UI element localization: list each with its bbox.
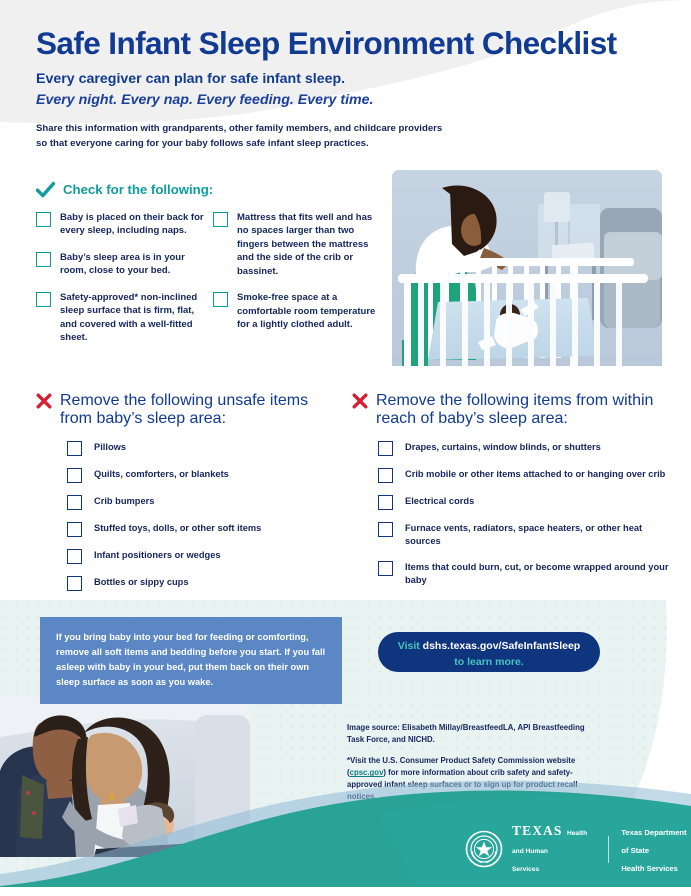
visit-url: dshs.texas.gov/SafeInfantSleep [423, 640, 581, 652]
list-item-label: Electrical cords [405, 494, 474, 508]
check-section: Check for the following: Baby is placed … [36, 182, 381, 358]
visit-label: Visit dshs.texas.gov/SafeInfantSleep [398, 640, 580, 652]
checkbox[interactable] [378, 522, 393, 537]
texas-state-seal-icon [465, 830, 503, 868]
bottom-white-strip [0, 887, 691, 896]
list-item[interactable]: Pillows [67, 440, 346, 456]
share-line-1: Share this information with grandparents… [36, 122, 666, 137]
hhs-wordmark: TEXAS Health and Human Services [512, 822, 595, 876]
list-item-label: Pillows [94, 440, 126, 454]
checklist-item[interactable]: Mattress that fits well and has no space… [213, 211, 381, 278]
checkbox[interactable] [67, 468, 82, 483]
x-icon [352, 393, 368, 409]
image-source-block: Image source: Elisabeth Millay/Breastfee… [347, 722, 597, 803]
checkbox[interactable] [213, 292, 228, 307]
checklist-item[interactable]: Baby is placed on their back for every s… [36, 211, 204, 238]
checkbox[interactable] [378, 495, 393, 510]
brand-divider [608, 836, 609, 863]
footnote-text: *Visit the U.S. Consumer Product Safety … [347, 755, 597, 803]
checkbox[interactable] [378, 468, 393, 483]
checklist-item-label: Baby is placed on their back for every s… [60, 211, 204, 238]
remove-right-heading: Remove the following items from within r… [352, 392, 677, 428]
dept-line-1: Texas Department of State [621, 828, 686, 855]
checkbox[interactable] [36, 252, 51, 267]
remove-left-title: Remove the following unsafe items from b… [60, 392, 308, 428]
checkbox[interactable] [36, 212, 51, 227]
list-item[interactable]: Bottles or sippy cups [67, 575, 346, 591]
image-source-credit: Image source: Elisabeth Millay/Breastfee… [347, 722, 597, 746]
list-item-label: Infant positioners or wedges [94, 548, 221, 562]
subtitle-line-1: Every caregiver can plan for safe infant… [36, 69, 666, 90]
list-item-label: Bottles or sippy cups [94, 575, 189, 589]
crib-photo [392, 170, 662, 375]
list-item-label: Furnace vents, radiators, space heaters,… [405, 521, 677, 549]
visit-subtext: to learn more. [398, 656, 580, 670]
list-item-label: Quilts, comforters, or blankets [94, 467, 229, 481]
bed-sharing-callout: If you bring baby into your bed for feed… [40, 617, 342, 704]
agency-branding: TEXAS Health and Human Services Texas De… [465, 822, 691, 876]
check-column-2: Mattress that fits well and has no space… [213, 211, 381, 358]
list-item-label: Items that could burn, cut, or become wr… [405, 560, 677, 588]
page-title: Safe Infant Sleep Environment Checklist [36, 26, 666, 60]
checkbox[interactable] [378, 561, 393, 576]
checkbox[interactable] [67, 495, 82, 510]
checklist-item-label: Safety-approved* non-inclined sleep surf… [60, 291, 204, 345]
list-item-label: Stuffed toys, dolls, or other soft items [94, 521, 261, 535]
checklist-item-label: Mattress that fits well and has no space… [237, 211, 381, 278]
list-item[interactable]: Items that could burn, cut, or become wr… [378, 560, 677, 588]
check-section-heading: Check for the following: [36, 182, 381, 200]
family-photo [0, 697, 250, 857]
dept-line-2: Health Services [621, 864, 678, 873]
x-icon [36, 393, 52, 409]
checklist-item[interactable]: Baby’s sleep area is in your room, close… [36, 251, 204, 278]
image-source-label: Image source: [347, 723, 400, 732]
checkbox[interactable] [67, 576, 82, 591]
checklist-item-label: Smoke-free space at a comfortable room t… [237, 291, 381, 331]
remove-left-list: Pillows Quilts, comforters, or blankets … [36, 440, 346, 591]
hhs-line-2: Services [512, 866, 539, 873]
visit-website-button[interactable]: Visit dshs.texas.gov/SafeInfantSleep to … [378, 632, 600, 672]
checkbox[interactable] [36, 292, 51, 307]
checkbox[interactable] [67, 441, 82, 456]
remove-within-reach-section: Remove the following items from within r… [352, 392, 677, 599]
check-section-title: Check for the following: [63, 182, 213, 198]
list-item[interactable]: Quilts, comforters, or blankets [67, 467, 346, 483]
page-header: Safe Infant Sleep Environment Checklist … [36, 26, 666, 151]
poster-page: Safe Infant Sleep Environment Checklist … [0, 0, 691, 896]
checklist-item[interactable]: Smoke-free space at a comfortable room t… [213, 291, 381, 331]
checklist-item[interactable]: Safety-approved* non-inclined sleep surf… [36, 291, 204, 345]
subtitle-line-2: Every night. Every nap. Every feeding. E… [36, 90, 666, 111]
check-icon [36, 181, 55, 200]
checkbox[interactable] [213, 212, 228, 227]
checklist-item-label: Baby’s sleep area is in your room, close… [60, 251, 204, 278]
list-item-label: Crib mobile or other items attached to o… [405, 467, 665, 481]
list-item-label: Crib bumpers [94, 494, 154, 508]
dshs-wordmark: Texas Department of State Health Service… [621, 822, 691, 876]
list-item[interactable]: Infant positioners or wedges [67, 548, 346, 564]
list-item[interactable]: Stuffed toys, dolls, or other soft items [67, 521, 346, 537]
list-item[interactable]: Crib mobile or other items attached to o… [378, 467, 677, 483]
checkbox[interactable] [67, 549, 82, 564]
remove-right-title: Remove the following items from within r… [376, 392, 653, 428]
remove-unsafe-items-section: Remove the following unsafe items from b… [36, 392, 346, 602]
list-item[interactable]: Electrical cords [378, 494, 677, 510]
list-item-label: Drapes, curtains, window blinds, or shut… [405, 440, 601, 454]
checkbox[interactable] [67, 522, 82, 537]
remove-left-heading: Remove the following unsafe items from b… [36, 392, 346, 428]
texas-wordmark: TEXAS [512, 823, 563, 838]
callout-text: If you bring baby into your bed for feed… [56, 630, 326, 690]
check-column-1: Baby is placed on their back for every s… [36, 211, 204, 358]
cpsc-link[interactable]: cpsc.gov [350, 768, 384, 777]
checkbox[interactable] [378, 441, 393, 456]
list-item[interactable]: Drapes, curtains, window blinds, or shut… [378, 440, 677, 456]
list-item[interactable]: Crib bumpers [67, 494, 346, 510]
visit-word: Visit [398, 640, 420, 652]
remove-right-list: Drapes, curtains, window blinds, or shut… [352, 440, 677, 588]
share-line-2: so that everyone caring for your baby fo… [36, 137, 666, 152]
list-item[interactable]: Furnace vents, radiators, space heaters,… [378, 521, 677, 549]
